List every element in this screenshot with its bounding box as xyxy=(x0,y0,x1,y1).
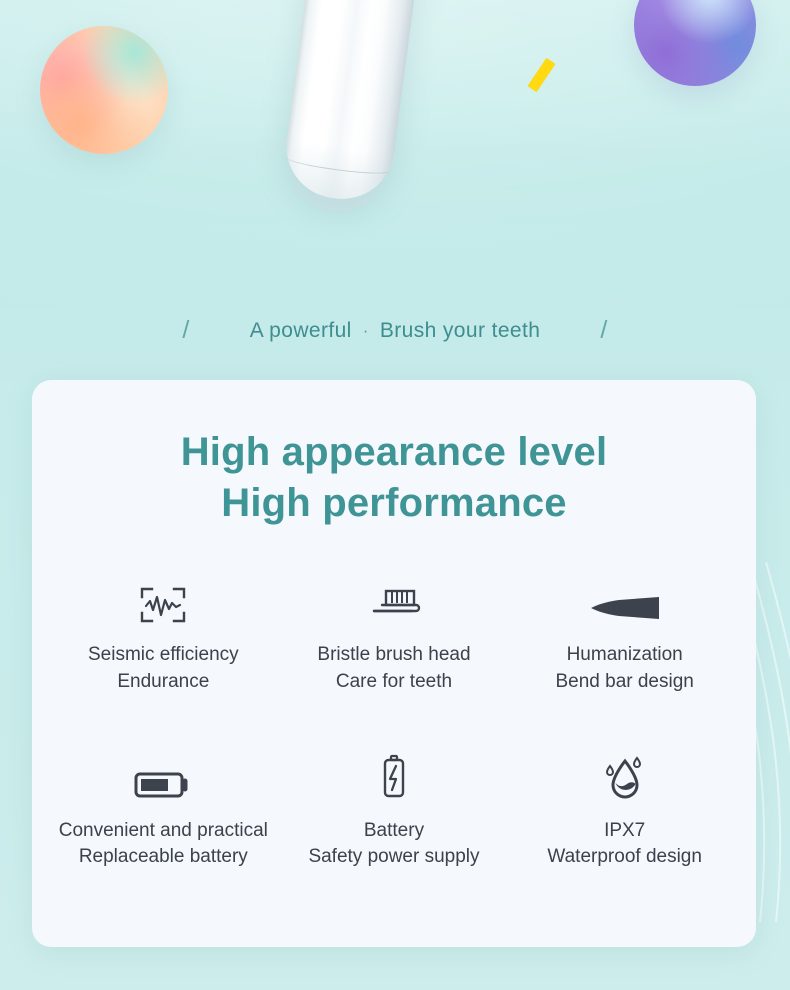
tagline-separator-dot: · xyxy=(363,321,369,341)
feature-line2: Waterproof design xyxy=(547,844,702,870)
feature-line2: Care for teeth xyxy=(317,669,470,695)
feature-line1: Humanization xyxy=(567,644,683,665)
feature-text: Seismic efficiency Endurance xyxy=(88,642,239,694)
feature-card: High appearance level High performance S… xyxy=(32,380,756,947)
seismic-waveform-icon xyxy=(138,571,188,625)
hero-tagline: / A powerful · Brush your teeth / xyxy=(0,316,790,345)
feature-line2: Endurance xyxy=(88,669,239,695)
card-title: High appearance level High performance xyxy=(32,427,756,529)
battery-bolt-icon xyxy=(377,747,411,801)
feature-line1: Bristle brush head xyxy=(317,644,470,665)
feature-line1: IPX7 xyxy=(604,820,645,841)
feature-item-battery-safety: Battery Safety power supply xyxy=(279,747,510,870)
feature-text: Bristle brush head Care for teeth xyxy=(317,642,470,694)
feature-item-bristle-brush-head: Bristle brush head Care for teeth xyxy=(279,571,510,694)
feature-text: Convenient and practical Replaceable bat… xyxy=(59,818,268,870)
feature-item-bend-bar-design: Humanization Bend bar design xyxy=(509,571,740,694)
feature-text: IPX7 Waterproof design xyxy=(547,818,702,870)
feature-line2: Bend bar design xyxy=(555,669,693,695)
feature-line1: Convenient and practical xyxy=(59,820,268,841)
feature-item-waterproof: IPX7 Waterproof design xyxy=(509,747,740,870)
card-title-line1: High appearance level xyxy=(181,430,608,474)
feature-line1: Battery xyxy=(364,820,424,841)
tagline-left-slash: / xyxy=(182,316,189,345)
feature-grid: Seismic efficiency Endurance Bristle bru… xyxy=(32,571,756,870)
tagline-part1: A powerful xyxy=(250,319,352,343)
battery-horizontal-icon xyxy=(134,747,192,801)
water-drop-icon xyxy=(602,747,648,801)
tagline-part2: Brush your teeth xyxy=(380,319,541,343)
bend-bar-wedge-icon xyxy=(589,571,661,625)
feature-text: Humanization Bend bar design xyxy=(555,642,693,694)
card-title-line2: High performance xyxy=(32,478,756,529)
gradient-sphere-pink-icon xyxy=(40,26,168,154)
feature-line2: Safety power supply xyxy=(308,844,479,870)
tagline-right-slash: / xyxy=(600,316,607,345)
hero-banner: / A powerful · Brush your teeth / xyxy=(0,0,790,382)
tagline-text-group: A powerful · Brush your teeth xyxy=(250,319,541,343)
feature-item-seismic-efficiency: Seismic efficiency Endurance xyxy=(48,571,279,694)
feature-item-replaceable-battery: Convenient and practical Replaceable bat… xyxy=(48,747,279,870)
feature-text: Battery Safety power supply xyxy=(308,818,479,870)
feature-line1: Seismic efficiency xyxy=(88,644,239,665)
toothbrush-head-icon xyxy=(366,571,422,625)
feature-line2: Replaceable battery xyxy=(59,844,268,870)
